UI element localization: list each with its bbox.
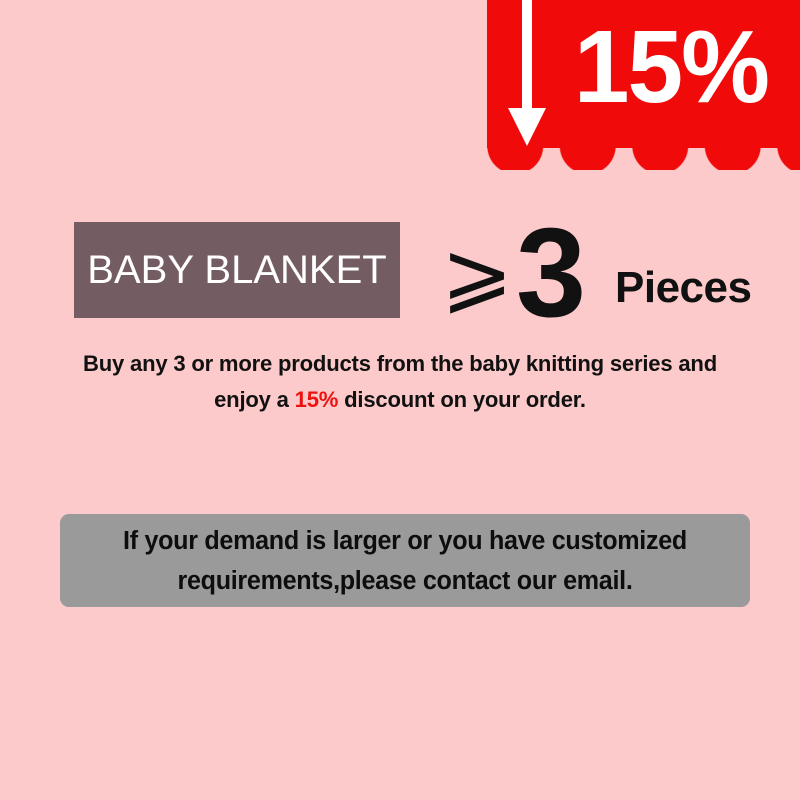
contact-message-line-2: requirements,please contact our email. [177,567,632,595]
arrow-down-icon [505,0,549,146]
greater-than-or-equal-icon: ⩾ [434,228,520,320]
arrow-head [508,108,546,146]
promo-description-line-1: Buy any 3 or more products from the baby… [83,351,717,376]
promo-description-line-2-suffix: discount on your order. [338,387,586,412]
arrow-shaft [522,0,532,116]
promo-description-line-2-prefix: enjoy a [214,387,295,412]
discount-banner-scalloped-edge [487,146,800,170]
contact-message-line-1: If your demand is larger or you have cus… [123,527,687,555]
contact-box: If your demand is larger or you have cus… [60,514,750,607]
minimum-quantity-unit: Pieces [615,266,751,310]
minimum-quantity-row: ⩾ 3 Pieces [434,216,764,326]
promo-discount-highlight: 15% [295,387,339,412]
contact-message: If your demand is larger or you have cus… [80,521,730,601]
product-label-text: BABY BLANKET [87,250,386,290]
promo-description: Buy any 3 or more products from the baby… [62,346,738,418]
minimum-quantity-number: 3 [516,210,583,336]
discount-banner: 15% [487,0,800,166]
discount-percent-text: 15% [555,2,788,130]
product-label-box: BABY BLANKET [74,222,400,318]
